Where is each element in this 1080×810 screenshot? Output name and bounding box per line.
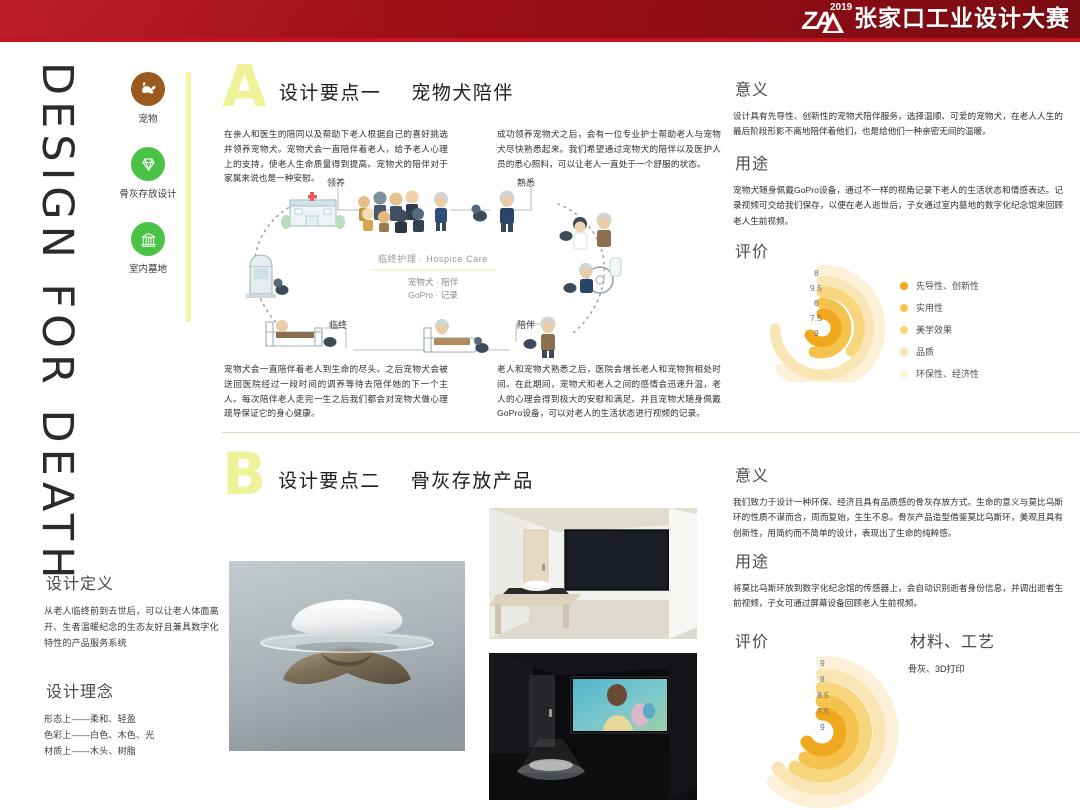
banner-bottom-rule xyxy=(0,38,1080,42)
legend-dot-1 xyxy=(900,282,908,290)
wheelchair-elder-illustration xyxy=(564,258,622,293)
section-b-meaning-title: 意义 xyxy=(733,462,771,486)
section-b-rating-title: 评价 xyxy=(733,628,771,652)
za-logo-icon: ZA 2019 xyxy=(802,3,848,35)
hospital-bed-illustration xyxy=(266,320,337,347)
nurse-and-elder-illustration xyxy=(560,213,612,250)
concept-icon-list: 宠物 骨灰存放设计 室内墓地 xyxy=(108,72,188,297)
design-concept-body: 形态上——柔和、轻盈 色彩上——白色、木色、光 材质上——木头、树脂 xyxy=(44,712,219,759)
rating-a-value-5: 9 xyxy=(814,328,819,338)
section-a-usage-title: 用途 xyxy=(733,150,771,174)
vertical-title-text: DESIGN FOR DEATH xyxy=(32,62,82,585)
section-a-letter: A xyxy=(222,64,267,109)
dog-adoption-group-illustration xyxy=(358,191,424,234)
section-divider xyxy=(222,432,1080,433)
diamond-icon xyxy=(131,147,165,181)
section-b-usage-title: 用途 xyxy=(733,548,771,572)
legend-label-4: 品质 xyxy=(916,345,934,358)
dog-meets-elder-illustration xyxy=(472,191,515,233)
rating-a-value-1: 8 xyxy=(814,268,819,278)
section-a-meaning-title: 意义 xyxy=(733,76,771,100)
flow-center-caption: 临终护理 · Hospice Care 宠物犬 · 陪伴 GoPro · 记录 xyxy=(348,252,518,302)
rating-b-value-5: 9 xyxy=(820,722,825,732)
section-a-title: 设计要点一 xyxy=(279,78,382,105)
section-b-titles: 设计要点二 骨灰存放产品 xyxy=(278,466,534,497)
bedside-companionship-illustration xyxy=(424,319,489,353)
rating-chart-a-legend: 先导性、创新性 实用性 美学效果 品质 环保性、经济性 xyxy=(900,279,979,389)
legend-label-5: 环保性、经济性 xyxy=(916,367,979,380)
banner-content: ZA 2019 张家口工业设计大赛 xyxy=(802,0,1070,38)
rating-b-value-1: 9 xyxy=(820,658,825,668)
rating-a-value-2: 9.5 xyxy=(810,283,822,293)
design-definition-block: 设计定义 从老人临终前到去世后，可以让老人体面离开、生者温暖纪念的生态友好且兼具… xyxy=(44,570,219,651)
design-definition-body: 从老人临终前到去世后，可以让老人体面离开、生者温暖纪念的生态友好且兼具数字化特性… xyxy=(44,604,219,651)
concept-item-indoor-cemetery: 室内墓地 xyxy=(108,222,188,275)
concept-line-form: 形态上——柔和、轻盈 xyxy=(44,712,219,728)
rating-a-value-4: 7.5 xyxy=(810,313,822,323)
hospice-care-flow-diagram: 领养 熟悉 陪伴 临终 临终护理 · Hospice Care 宠物犬 · 陪伴… xyxy=(228,172,628,362)
legend-label-2: 实用性 xyxy=(916,301,943,314)
legend-label-3: 美学效果 xyxy=(916,323,952,336)
concept-line-material: 材质上——木头、树脂 xyxy=(44,744,219,760)
concept-item-ash-storage-label: 骨灰存放设计 xyxy=(119,186,176,200)
section-a-subtitle: 宠物犬陪伴 xyxy=(411,78,514,105)
section-a-meaning-block: 意义 设计具有先导性、创新性的宠物犬陪伴服务，选择温顺、可爱的宠物犬，在老人人生… xyxy=(733,76,1063,140)
logo-triangle-icon xyxy=(821,10,845,33)
section-a-titles: 设计要点一 宠物犬陪伴 xyxy=(279,78,514,109)
section-b-usage-block: 用途 将莫比乌斯环放到数字化纪念馆的传感器上，会自动识别逝者身份信息，并调出逝者… xyxy=(733,548,1063,612)
section-a-rating-title: 评价 xyxy=(733,238,771,262)
competition-banner: ZA 2019 张家口工业设计大赛 xyxy=(0,0,1080,38)
section-b-usage-body: 将莫比乌斯环放到数字化纪念馆的传感器上，会自动识别逝者身份信息，并调出逝者生前视… xyxy=(733,581,1063,612)
legend-item-1: 先导性、创新性 xyxy=(900,279,979,292)
memorial-room-lit-photo xyxy=(489,508,697,639)
legend-item-5: 环保性、经济性 xyxy=(900,367,979,380)
section-b-title: 设计要点二 xyxy=(278,466,381,493)
concept-item-ash-storage: 骨灰存放设计 xyxy=(108,147,188,200)
sidebar-accent-bar xyxy=(186,72,191,322)
legend-item-3: 美学效果 xyxy=(900,323,979,336)
banner-year: 2019 xyxy=(830,2,852,13)
design-concept-block: 设计理念 形态上——柔和、轻盈 色彩上——白色、木色、光 材质上——木头、树脂 xyxy=(44,678,219,759)
banner-title: 张家口工业设计大赛 xyxy=(854,8,1070,31)
concept-item-indoor-cemetery-label: 室内墓地 xyxy=(129,261,167,275)
poster-canvas: ZA 2019 张家口工业设计大赛 DESIGN FOR DEATH 宠物 xyxy=(0,0,1080,810)
legend-dot-2 xyxy=(900,304,908,312)
elderly-person-walking-illustration xyxy=(434,192,448,231)
design-concept-title: 设计理念 xyxy=(44,678,116,702)
section-a-paragraph-bottom-right: 老人和宠物犬熟悉之后，医院会增长老人和宠物狗相处时间。在此期间，宠物犬和老人之间… xyxy=(497,362,721,421)
tombstone-illustration xyxy=(246,255,289,298)
section-b-material-title: 材料、工艺 xyxy=(908,628,997,652)
flow-center-line1: 宠物犬 · 陪伴 xyxy=(348,276,518,289)
bank-icon xyxy=(131,222,165,256)
section-a-meaning-body: 设计具有先导性、创新性的宠物犬陪伴服务，选择温顺、可爱的宠物犬，在老人人生的最后… xyxy=(733,109,1063,140)
rating-b-value-4: 7.5 xyxy=(817,706,829,716)
flow-center-line2: GoPro · 记录 xyxy=(348,289,518,302)
flow-center-title: 临终护理 · Hospice Care xyxy=(348,252,518,265)
section-b-header: B 设计要点二 骨灰存放产品 xyxy=(222,452,534,497)
rating-radial-chart-b: 9 8 8.5 7.5 9 xyxy=(742,648,902,808)
section-a-paragraph-bottom-left: 宠物犬会一直陪伴着老人到生命的尽头。之后宠物犬会被送回医院经过一段时间的调养等待… xyxy=(224,362,448,421)
flow-label-end-of-life: 临终 xyxy=(328,318,348,331)
flow-center-rule xyxy=(370,269,496,271)
section-a-usage-body: 宠物犬随身佩戴GoPro设备，通过不一样的视角记录下老人的生活状态和情感表达。记… xyxy=(733,183,1063,229)
concept-line-color: 色彩上——白色、木色、光 xyxy=(44,728,219,744)
rating-b-value-2: 8 xyxy=(820,674,825,684)
section-a-paragraph-top-right: 成功领养宠物犬之后，会有一位专业护士帮助老人与宠物犬尽快熟悉起来。我们希望通过宠… xyxy=(497,127,721,171)
rating-radial-chart-a: 8 9.5 6 7.5 9 xyxy=(746,262,886,382)
section-a-usage-block: 用途 宠物犬随身佩戴GoPro设备，通过不一样的视角记录下老人的生活状态和情感表… xyxy=(733,150,1063,229)
section-b-material-body: 骨灰、3D打印 xyxy=(908,661,1068,677)
memorial-room-dark-photo xyxy=(489,653,697,800)
rating-b-value-3: 8.5 xyxy=(817,690,829,700)
legend-item-2: 实用性 xyxy=(900,301,979,314)
hospital-building-illustration xyxy=(281,192,345,229)
legend-item-4: 品质 xyxy=(900,345,979,358)
concept-item-pet-label: 宠物 xyxy=(138,111,157,125)
concept-item-pet: 宠物 xyxy=(108,72,188,125)
section-b-meaning-block: 意义 我们致力于设计一种环保、经济且具有品质感的骨灰存放方式。生命的意义与莫比乌… xyxy=(733,462,1063,541)
section-b-letter: B xyxy=(222,452,266,497)
legend-dot-5 xyxy=(900,370,908,378)
flow-label-familiarize: 熟悉 xyxy=(516,176,536,189)
section-b-subtitle: 骨灰存放产品 xyxy=(411,466,534,493)
legend-dot-3 xyxy=(900,326,908,334)
rating-a-value-3: 6 xyxy=(814,298,819,308)
product-mobius-photo xyxy=(229,561,465,751)
legend-label-1: 先导性、创新性 xyxy=(916,279,979,292)
pet-icon xyxy=(131,72,165,106)
flow-label-adopt: 领养 xyxy=(326,176,346,189)
legend-dot-4 xyxy=(900,348,908,356)
flow-label-companionship: 陪伴 xyxy=(516,318,536,331)
section-a-header: A 设计要点一 宠物犬陪伴 xyxy=(222,64,514,109)
poster-vertical-title: DESIGN FOR DEATH xyxy=(22,62,92,532)
section-b-meaning-body: 我们致力于设计一种环保、经济且具有品质感的骨灰存放方式。生命的意义与莫比乌斯环的… xyxy=(733,495,1063,541)
section-b-material-block: 材料、工艺 骨灰、3D打印 xyxy=(908,628,1068,677)
design-definition-title: 设计定义 xyxy=(44,570,116,594)
